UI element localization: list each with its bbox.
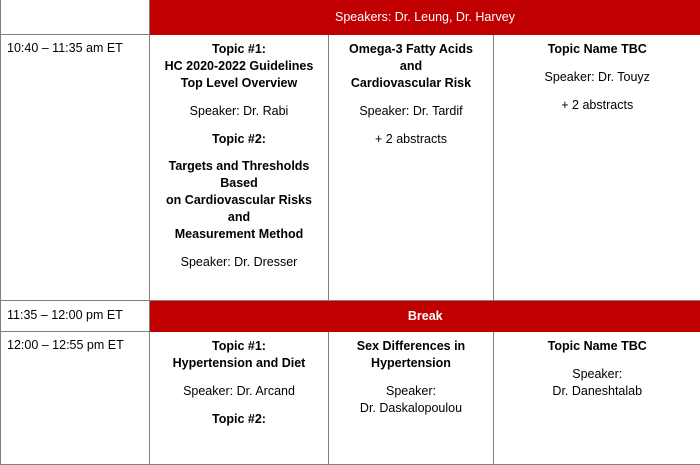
speaker-name: Speaker: Dr. Touyz xyxy=(502,69,693,86)
session-cell-track-b-1200: Sex Differences in Hypertension Speaker:… xyxy=(329,332,494,465)
abstracts-count: + 2 abstracts xyxy=(502,97,693,114)
banner-speakers: Speakers: Dr. Leung, Dr. Harvey xyxy=(150,0,700,35)
speaker-name: Dr. Daneshtalab xyxy=(502,383,693,400)
topic-title-line-2: Top Level Overview xyxy=(158,75,320,92)
speaker-block: Speaker: Dr. Tardif xyxy=(337,103,485,120)
topic-block-1: Topic #1: Hypertension and Diet xyxy=(158,338,320,372)
topic-title: Topic Name TBC xyxy=(502,41,693,58)
table-row-session-1040: 10:40 – 11:35 am ET Topic #1: HC 2020-20… xyxy=(1,35,700,301)
topic-title-line-1: Topic Name TBC xyxy=(502,41,693,58)
abstracts-note: + 2 abstracts xyxy=(337,131,485,148)
table-row-session-1200: 12:00 – 12:55 pm ET Topic #1: Hypertensi… xyxy=(1,332,700,465)
table-row-break: 11:35 – 12:00 pm ET Break xyxy=(1,301,700,332)
topic-title-line-1: HC 2020-2022 Guidelines xyxy=(158,58,320,75)
speaker-name: Speaker: Dr. Dresser xyxy=(158,254,320,271)
session-cell-track-a-1200: Topic #1: Hypertension and Diet Speaker:… xyxy=(150,332,329,465)
speaker-block-2: Speaker: Dr. Dresser xyxy=(158,254,320,271)
topic-title: Omega-3 Fatty Acids and Cardiovascular R… xyxy=(337,41,485,92)
speaker-name: Dr. Daskalopoulou xyxy=(337,400,485,417)
speaker-label: Speaker: xyxy=(337,383,485,400)
time-cell-1040: 10:40 – 11:35 am ET xyxy=(1,35,150,301)
abstracts-note: + 2 abstracts xyxy=(502,97,693,114)
topic-title-line-2: Cardiovascular Risk xyxy=(337,75,485,92)
topic-title-line-1: Sex Differences in xyxy=(337,338,485,355)
banner-break: Break xyxy=(150,301,700,332)
topic-block-2-label: Topic #2: xyxy=(158,411,320,428)
time-cell-break: 11:35 – 12:00 pm ET xyxy=(1,301,150,332)
topic-label: Topic #2: xyxy=(158,411,320,428)
time-cell-empty xyxy=(1,0,150,35)
topic-title-line-3: Measurement Method xyxy=(158,226,320,243)
topic-title-line-1: Topic Name TBC xyxy=(502,338,693,355)
speaker-block: Speaker: Dr. Daskalopoulou xyxy=(337,383,485,417)
time-cell-1200: 12:00 – 12:55 pm ET xyxy=(1,332,150,465)
topic-label: Topic #1: xyxy=(158,41,320,58)
abstracts-count: + 2 abstracts xyxy=(337,131,485,148)
topic-title: Sex Differences in Hypertension xyxy=(337,338,485,372)
topic-block-2-title: Targets and Thresholds Based on Cardiova… xyxy=(158,158,320,242)
topic-block-2-label: Topic #2: xyxy=(158,131,320,148)
session-cell-track-a-1040: Topic #1: HC 2020-2022 Guidelines Top Le… xyxy=(150,35,329,301)
agenda-table: Speakers: Dr. Leung, Dr. Harvey 10:40 – … xyxy=(0,0,700,465)
speaker-block-1: Speaker: Dr. Rabi xyxy=(158,103,320,120)
speaker-block: Speaker: Dr. Touyz xyxy=(502,69,693,86)
topic-title-line-1: Hypertension and Diet xyxy=(158,355,320,372)
speaker-block-1: Speaker: Dr. Arcand xyxy=(158,383,320,400)
speaker-name: Speaker: Dr. Rabi xyxy=(158,103,320,120)
topic-title: Topic Name TBC xyxy=(502,338,693,355)
table-row-banner-speakers: Speakers: Dr. Leung, Dr. Harvey xyxy=(1,0,700,35)
session-cell-track-b-1040: Omega-3 Fatty Acids and Cardiovascular R… xyxy=(329,35,494,301)
speaker-block: Speaker: Dr. Daneshtalab xyxy=(502,366,693,400)
topic-title-line-2: Hypertension xyxy=(337,355,485,372)
speaker-label: Speaker: xyxy=(502,366,693,383)
session-cell-track-c-1040: Topic Name TBC Speaker: Dr. Touyz + 2 ab… xyxy=(494,35,700,301)
topic-label: Topic #2: xyxy=(158,131,320,148)
topic-label: Topic #1: xyxy=(158,338,320,355)
topic-block-1: Topic #1: HC 2020-2022 Guidelines Top Le… xyxy=(158,41,320,92)
session-cell-track-c-1200: Topic Name TBC Speaker: Dr. Daneshtalab xyxy=(494,332,700,465)
topic-title-line-1: Targets and Thresholds Based xyxy=(158,158,320,192)
topic-title-line-2: on Cardiovascular Risks and xyxy=(158,192,320,226)
speaker-name: Speaker: Dr. Arcand xyxy=(158,383,320,400)
speaker-name: Speaker: Dr. Tardif xyxy=(337,103,485,120)
topic-title-line-1: Omega-3 Fatty Acids and xyxy=(337,41,485,75)
